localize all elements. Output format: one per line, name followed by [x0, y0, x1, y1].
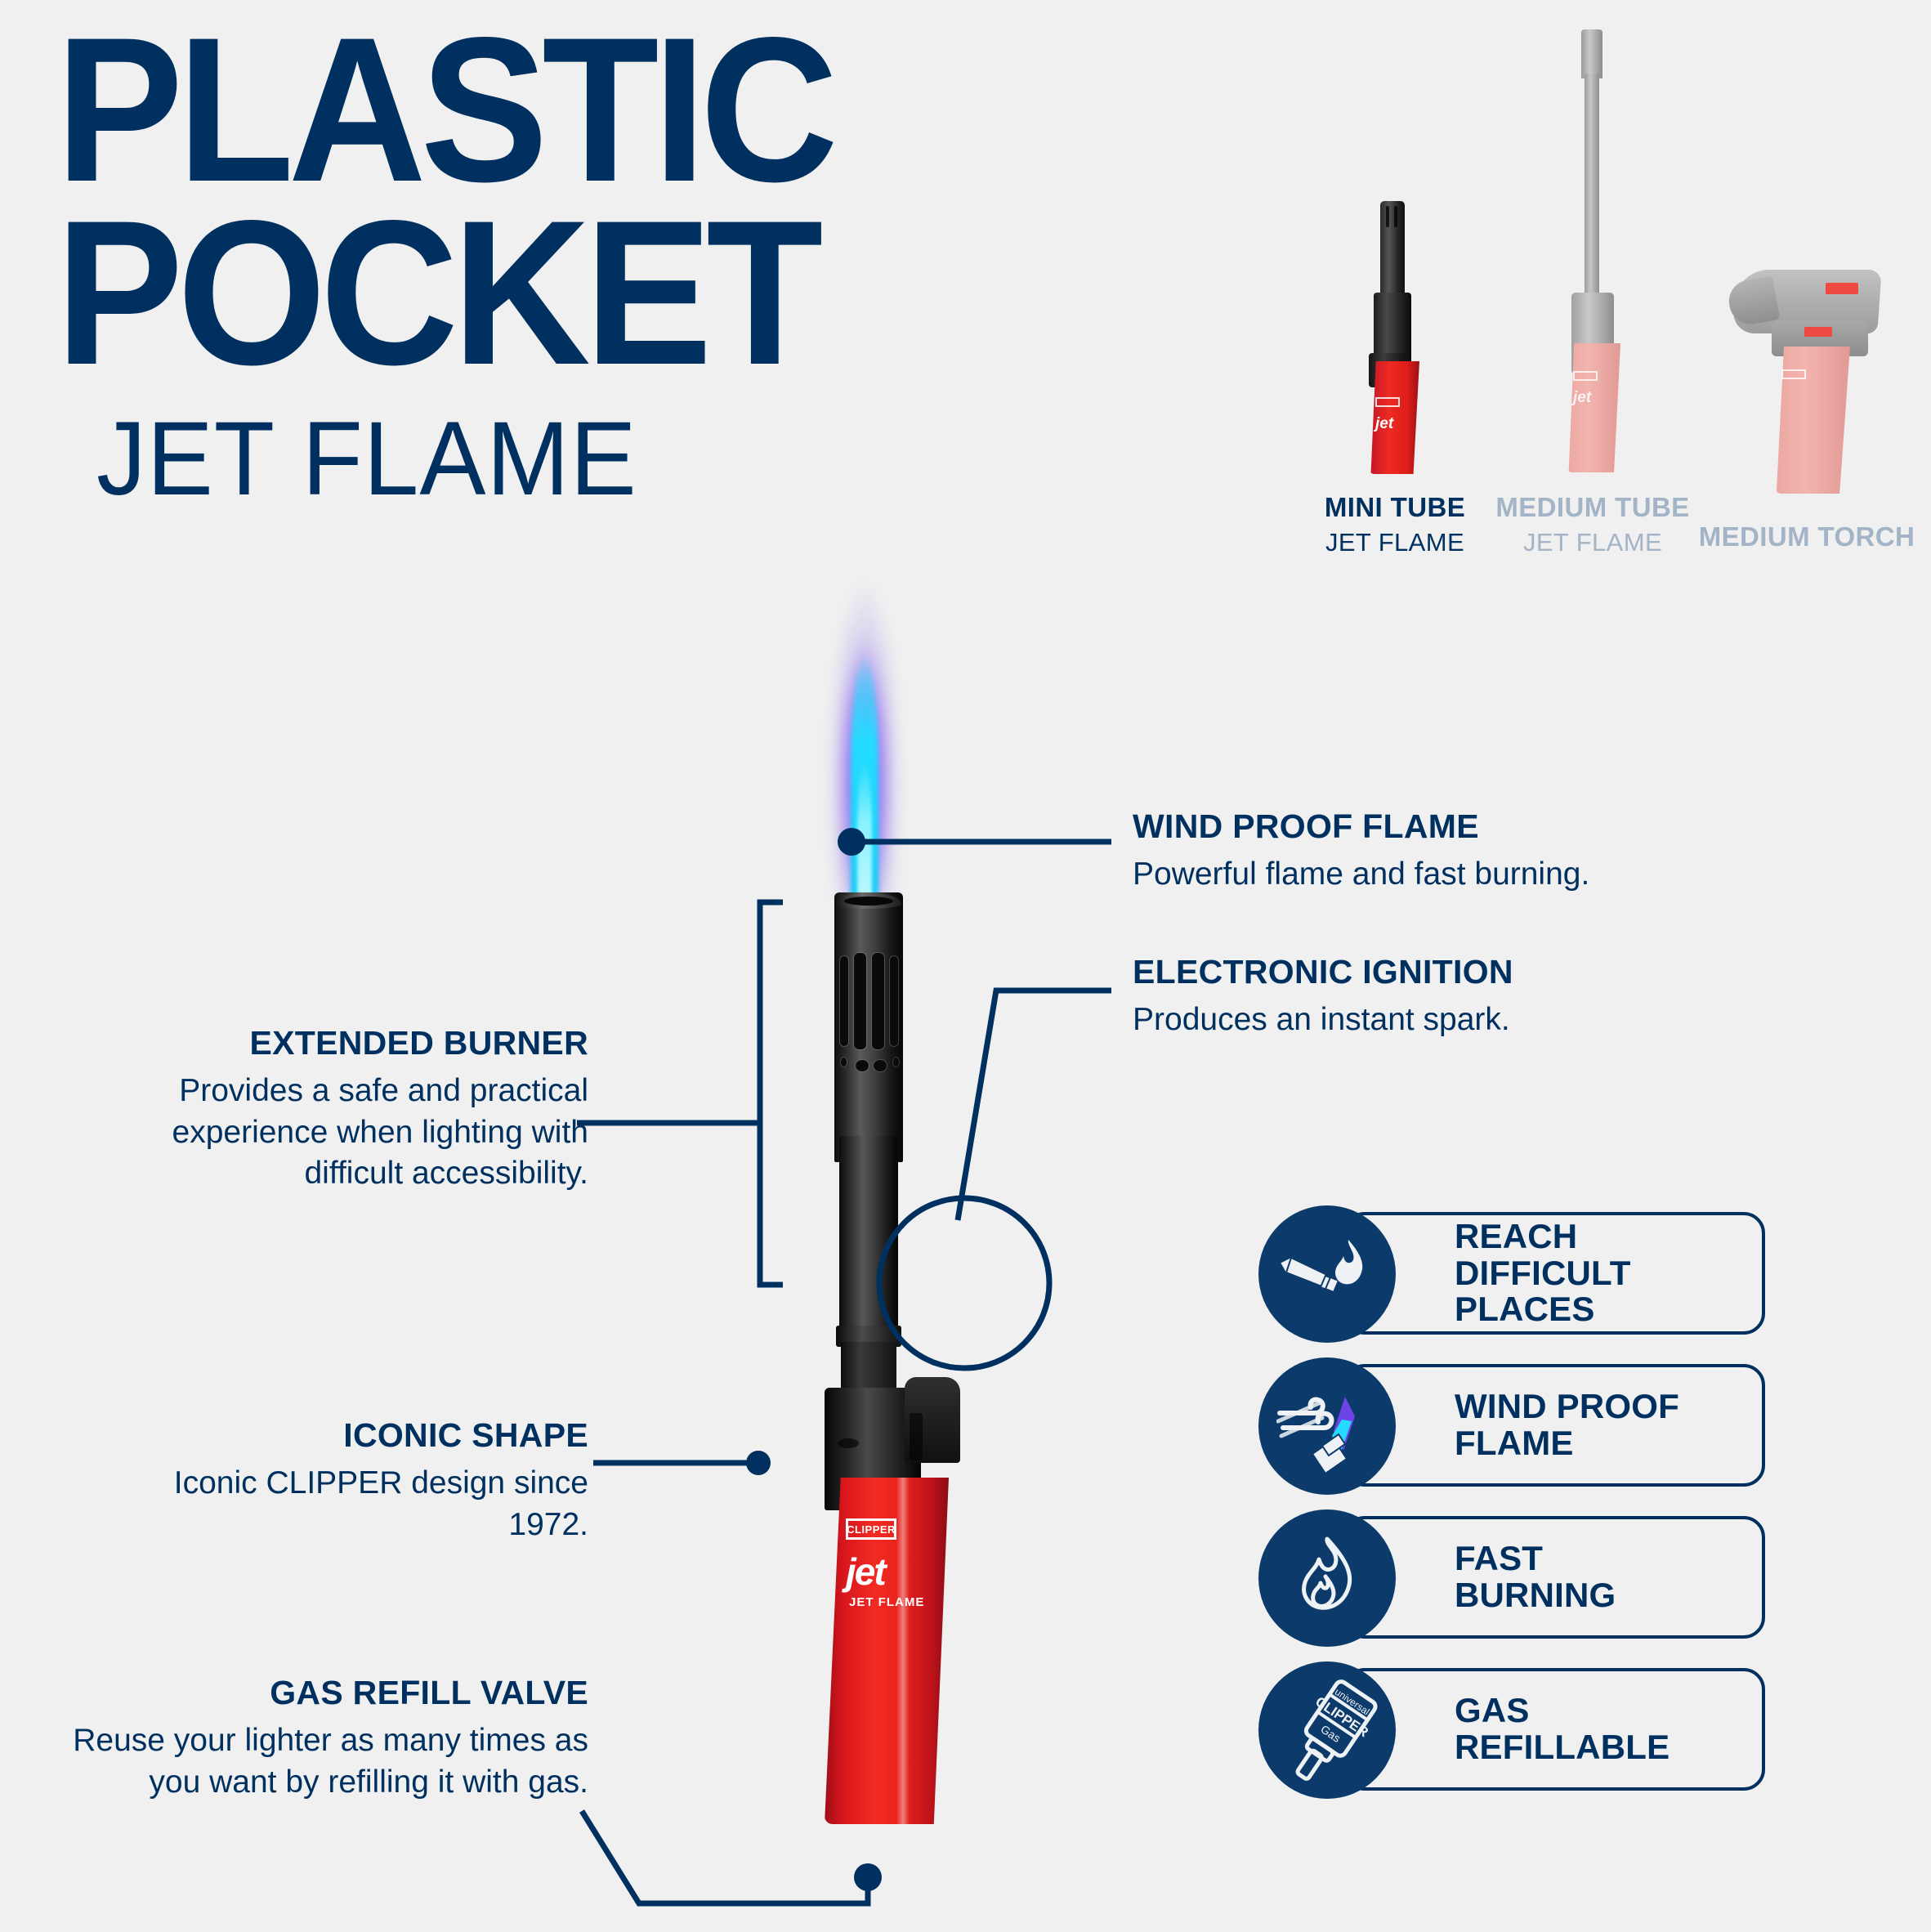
headline-line-2: POCKET [56, 211, 1120, 376]
burner-vent-hole [874, 1060, 887, 1071]
burner-vent-hole [893, 1058, 899, 1067]
extended-burner-tube [834, 892, 903, 1162]
jet-script-logo: jet [846, 1550, 885, 1594]
badge-line-1: WIND PROOF [1455, 1389, 1679, 1425]
burner-vent-hole [856, 1060, 869, 1071]
medium-torch-lighter-art [1729, 255, 1884, 500]
product-variants: jet MINI TUBE JET FLAME jet MEDIUM TUBE … [1265, 18, 1919, 557]
badge-pill: WIND PROOF FLAME [1343, 1364, 1765, 1487]
badge-line-2: DIFFICULT [1455, 1255, 1631, 1292]
callout-title: EXTENDED BURNER [65, 1026, 588, 1061]
badge-pill: FAST BURNING [1343, 1516, 1765, 1639]
callout-gas-refill-valve: GAS REFILL VALVE Reuse your lighter as m… [25, 1675, 588, 1803]
badge-pill: GAS REFILLABLE [1343, 1668, 1765, 1791]
badge-wind-proof-flame[interactable]: WIND PROOF FLAME [1258, 1357, 1765, 1495]
mini-tube-nozzle-icon [1380, 201, 1405, 297]
extended-burner-bracket [760, 902, 783, 1285]
flame-icon [1258, 1509, 1396, 1647]
badge-label: GAS REFILLABLE [1455, 1693, 1670, 1765]
callout-title: ELECTRONIC IGNITION [1133, 955, 1770, 990]
flame-outer-glow [822, 490, 907, 899]
badge-label: FAST BURNING [1455, 1541, 1616, 1613]
ignition-trigger[interactable] [905, 1377, 960, 1463]
burner-vent-slot [840, 956, 848, 1046]
flame-core [851, 654, 878, 899]
main-product-image: CLIPPER jet JET FLAME [789, 490, 985, 1831]
callout-body: Iconic CLIPPER design since 1972. [147, 1463, 588, 1545]
headline-subtitle: JET FLAME [96, 409, 1145, 509]
callout-wind-proof-flame: WIND PROOF FLAME Powerful flame and fast… [1133, 809, 1770, 896]
jet-flame-body-label: JET FLAME [849, 1595, 924, 1609]
feature-badge-list: REACH DIFFICULT PLACES [1258, 1205, 1765, 1813]
badge-line-1: FAST [1455, 1541, 1616, 1577]
callout-extended-burner: EXTENDED BURNER Provides a safe and prac… [65, 1026, 588, 1195]
badge-reach-difficult-places[interactable]: REACH DIFFICULT PLACES [1258, 1205, 1765, 1343]
gas-canister-icon: universal CLIPPER Gas [1258, 1661, 1396, 1799]
medium-torch-brand-box-icon [1781, 369, 1806, 379]
badge-line-2: REFILLABLE [1455, 1729, 1670, 1766]
burner-vent-slot [854, 953, 866, 1049]
burner-shaft [839, 1136, 898, 1340]
medium-tube-stem-icon [1585, 74, 1599, 302]
burner-vent-slot [890, 956, 898, 1046]
callout-body: Provides a safe and practical experience… [65, 1071, 588, 1195]
medium-torch-body-icon [1775, 347, 1850, 494]
callout-electronic-ignition: ELECTRONIC IGNITION Produces an instant … [1133, 955, 1770, 1041]
mini-tube-lighter-art: jet [1346, 201, 1444, 471]
badge-label: WIND PROOF FLAME [1455, 1389, 1679, 1461]
variant-medium-torch-name: MEDIUM TORCH [1672, 521, 1931, 552]
variant-medium-torch[interactable]: MEDIUM TORCH [1672, 255, 1931, 557]
cap-vent-detail [838, 1438, 859, 1448]
medium-torch-button-icon [1804, 327, 1832, 337]
badge-line-3: PLACES [1455, 1291, 1631, 1328]
headline-line-1: PLASTIC [56, 28, 1120, 193]
mini-tube-brand-box-icon [1375, 397, 1400, 407]
medium-tube-brand-box-icon [1573, 371, 1598, 381]
medium-torch-lock-icon [1826, 283, 1858, 294]
burner-mouth [844, 897, 893, 906]
medium-tube-lighter-art: jet [1544, 29, 1642, 471]
badge-fast-burning[interactable]: FAST BURNING [1258, 1509, 1765, 1647]
burner-vent-hole [841, 1058, 847, 1067]
callout-title: WIND PROOF FLAME [1133, 809, 1770, 844]
badge-line-1: GAS [1455, 1693, 1670, 1729]
medium-tube-body-icon [1567, 343, 1620, 472]
badge-label: REACH DIFFICULT PLACES [1455, 1219, 1631, 1328]
mini-tube-jet-logo: jet [1375, 415, 1393, 433]
callout-title: ICONIC SHAPE [147, 1418, 588, 1453]
lighter-flame-icon [1258, 1205, 1396, 1343]
badge-line-2: BURNING [1455, 1577, 1616, 1614]
infographic-page: PLASTIC POCKET JET FLAME jet MINI TUBE J… [0, 0, 1931, 1932]
clipper-brand-box: CLIPPER [846, 1518, 896, 1540]
badge-pill: REACH DIFFICULT PLACES [1343, 1212, 1765, 1335]
callout-iconic-shape: ICONIC SHAPE Iconic CLIPPER design since… [147, 1418, 588, 1545]
medium-tube-nozzle-icon [1581, 29, 1602, 78]
flame-hot-center [857, 760, 872, 899]
callout-body: Produces an instant spark. [1133, 1000, 1770, 1041]
page-title: PLASTIC POCKET JET FLAME [56, 28, 1200, 509]
callout-title: GAS REFILL VALVE [25, 1675, 588, 1711]
iconic-shape-anchor-dot [746, 1451, 771, 1475]
medium-tube-jet-logo: jet [1573, 389, 1591, 407]
badge-line-1: REACH [1455, 1219, 1631, 1255]
jet-flame-graphic [820, 490, 910, 899]
body-highlight [896, 1478, 910, 1824]
badge-gas-refillable[interactable]: GAS REFILLABLE universal CLIPPER Gas [1258, 1661, 1765, 1799]
callout-body: Reuse your lighter as many times as you … [25, 1720, 588, 1803]
burner-vent-slot [872, 953, 884, 1049]
gas-refill-anchor-dot [854, 1863, 882, 1891]
callout-body: Powerful flame and fast burning. [1133, 854, 1770, 896]
badge-line-2: FLAME [1455, 1425, 1679, 1462]
wind-flame-icon [1258, 1357, 1396, 1495]
